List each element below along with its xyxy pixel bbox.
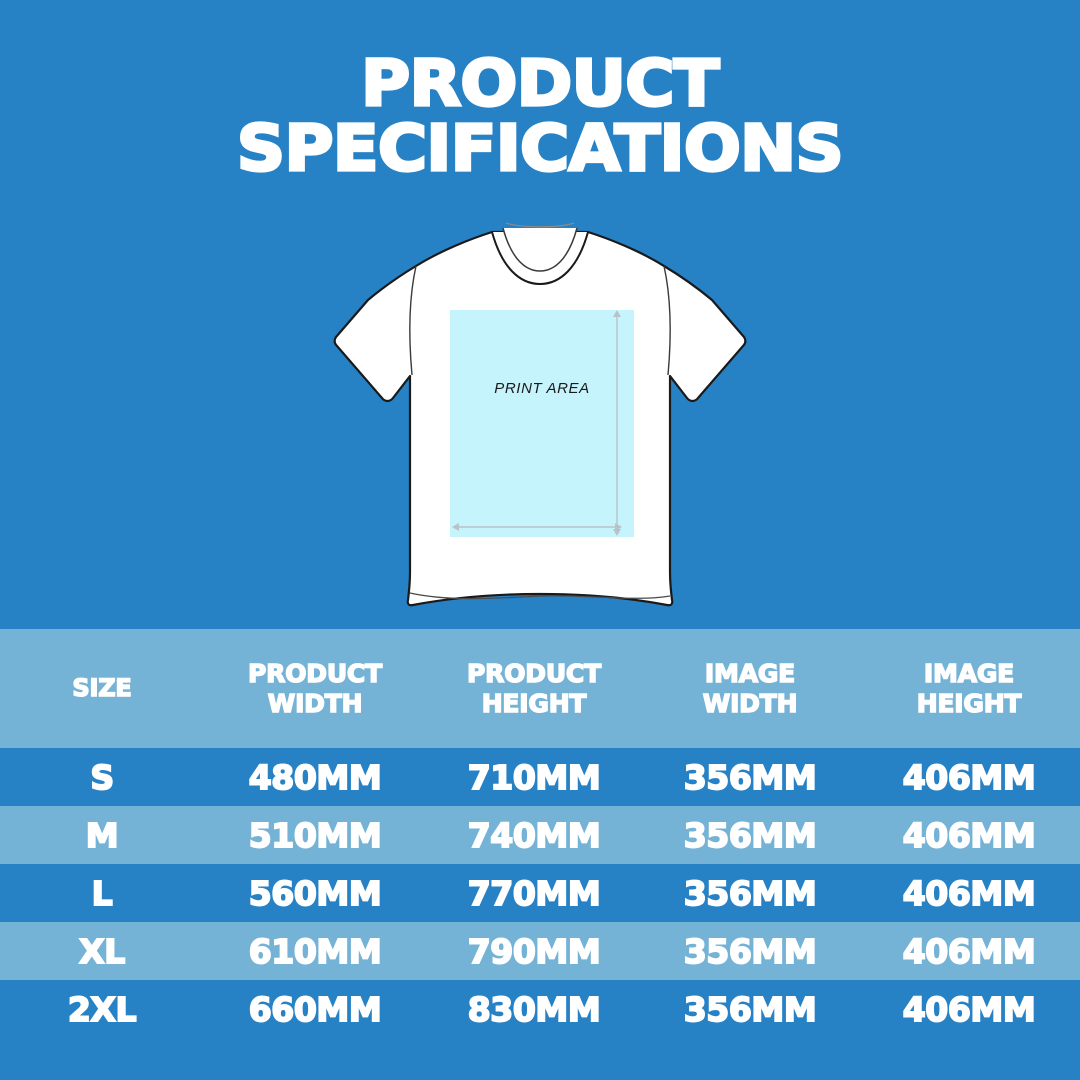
column-header-size: SIZE (0, 629, 204, 748)
column-header-product-width-line2: WIDTH (204, 689, 426, 719)
table-row: L 560MM 770MM 356MM 406MM (0, 864, 1080, 922)
cell-product-height: 740MM (426, 806, 642, 864)
cell-image-height: 406MM (858, 864, 1080, 922)
cell-image-height: 406MM (858, 980, 1080, 1038)
table-header: SIZE PRODUCT WIDTH PRODUCT HEIGHT IMAGE … (0, 629, 1080, 748)
cell-product-height: 790MM (426, 922, 642, 980)
cell-product-height: 770MM (426, 864, 642, 922)
cell-image-width: 356MM (642, 806, 858, 864)
tshirt-collar-band (506, 223, 574, 227)
cell-image-width: 356MM (642, 748, 858, 806)
cell-image-width: 356MM (642, 922, 858, 980)
print-area-label: PRINT AREA (450, 380, 634, 397)
cell-product-height: 710MM (426, 748, 642, 806)
cell-product-width: 560MM (204, 864, 426, 922)
column-header-image-height: IMAGE HEIGHT (858, 629, 1080, 748)
column-header-product-width: PRODUCT WIDTH (204, 629, 426, 748)
cell-image-width: 356MM (642, 864, 858, 922)
column-header-product-height: PRODUCT HEIGHT (426, 629, 642, 748)
cell-product-height: 830MM (426, 980, 642, 1038)
specifications-table: SIZE PRODUCT WIDTH PRODUCT HEIGHT IMAGE … (0, 629, 1080, 1038)
column-header-image-width-line1: IMAGE (642, 659, 858, 689)
column-header-product-height-line1: PRODUCT (426, 659, 642, 689)
cell-product-width: 510MM (204, 806, 426, 864)
cell-image-width: 356MM (642, 980, 858, 1038)
cell-size: M (0, 806, 204, 864)
cell-product-width: 610MM (204, 922, 426, 980)
print-area-rect (450, 310, 634, 537)
column-header-image-width: IMAGE WIDTH (642, 629, 858, 748)
cell-size: S (0, 748, 204, 806)
cell-size: XL (0, 922, 204, 980)
column-header-size-line1: SIZE (0, 674, 204, 702)
page-title-line-2: SPECIFICATIONS (0, 117, 1080, 182)
column-header-image-height-line2: HEIGHT (858, 689, 1080, 719)
page-title: PRODUCT SPECIFICATIONS (0, 52, 1080, 182)
table-row: 2XL 660MM 830MM 356MM 406MM (0, 980, 1080, 1038)
page-title-line-1: PRODUCT (0, 52, 1080, 117)
product-specifications-page: PRODUCT SPECIFICATIONS (0, 0, 1080, 1080)
column-header-product-width-line1: PRODUCT (204, 659, 426, 689)
cell-image-height: 406MM (858, 922, 1080, 980)
table-row: M 510MM 740MM 356MM 406MM (0, 806, 1080, 864)
cell-size: 2XL (0, 980, 204, 1038)
table-header-row: SIZE PRODUCT WIDTH PRODUCT HEIGHT IMAGE … (0, 629, 1080, 748)
cell-image-height: 406MM (858, 748, 1080, 806)
column-header-image-height-line1: IMAGE (858, 659, 1080, 689)
table-body: S 480MM 710MM 356MM 406MM M 510MM 740MM … (0, 748, 1080, 1038)
cell-size: L (0, 864, 204, 922)
table-row: XL 610MM 790MM 356MM 406MM (0, 922, 1080, 980)
cell-image-height: 406MM (858, 806, 1080, 864)
column-header-product-height-line2: HEIGHT (426, 689, 642, 719)
cell-product-width: 660MM (204, 980, 426, 1038)
cell-product-width: 480MM (204, 748, 426, 806)
tshirt-illustration (320, 212, 760, 624)
column-header-image-width-line2: WIDTH (642, 689, 858, 719)
table-row: S 480MM 710MM 356MM 406MM (0, 748, 1080, 806)
